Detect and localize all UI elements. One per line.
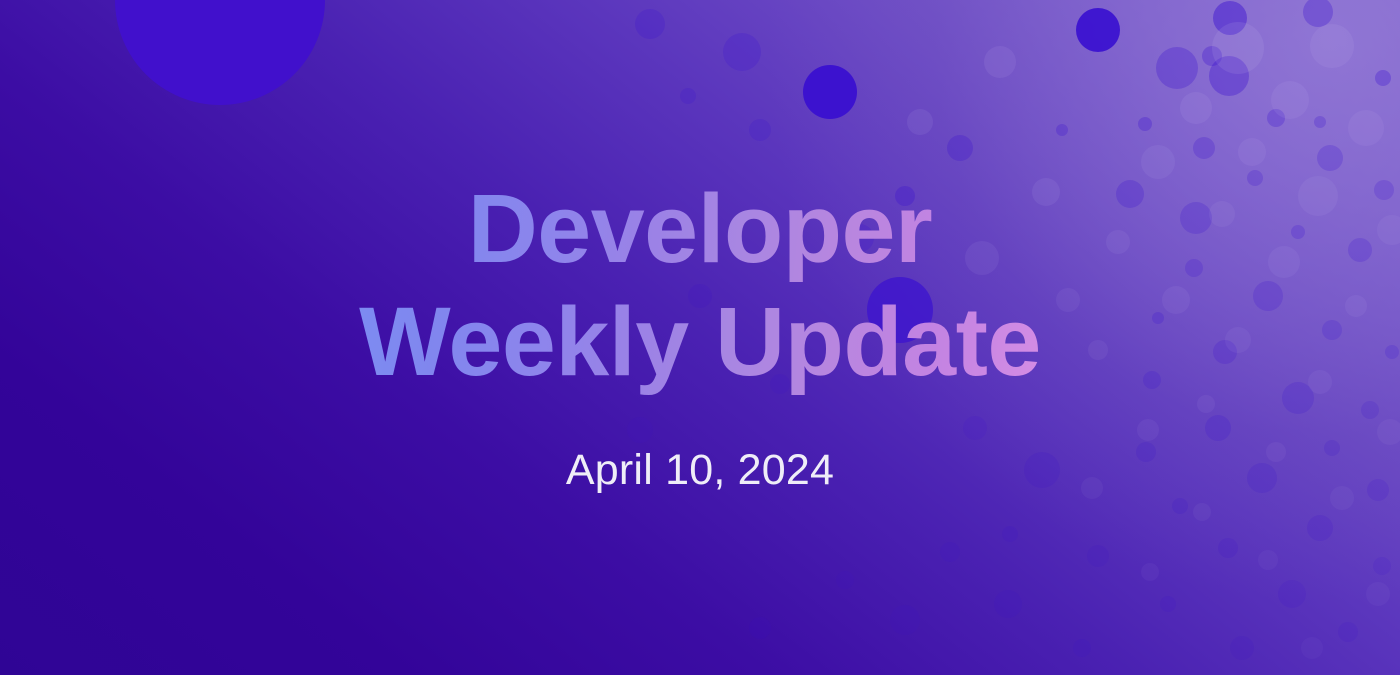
banner-content: Developer Weekly Update April 10, 2024 xyxy=(0,0,1400,675)
weekly-update-banner: Developer Weekly Update April 10, 2024 xyxy=(0,0,1400,675)
banner-date: April 10, 2024 xyxy=(566,446,834,495)
page-title: Developer Weekly Update xyxy=(359,172,1041,399)
